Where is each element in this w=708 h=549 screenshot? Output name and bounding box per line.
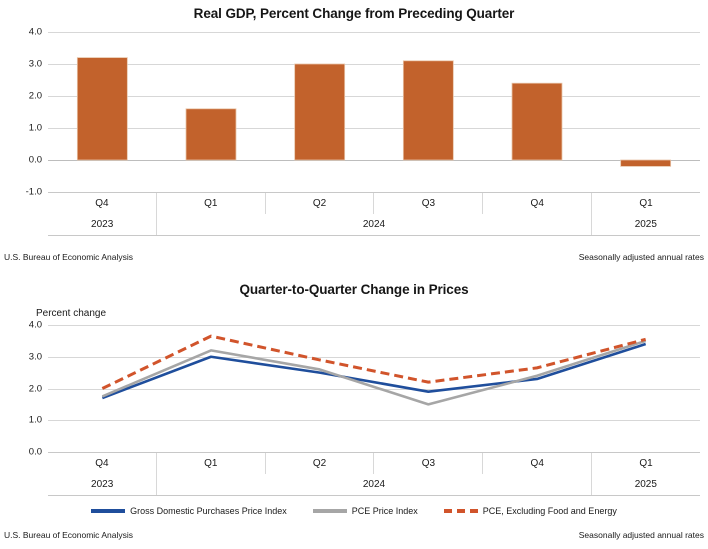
x-axis-quarter-label: Q4	[483, 453, 592, 474]
legend-label: PCE, Excluding Food and Energy	[483, 506, 617, 516]
legend-label: Gross Domestic Purchases Price Index	[130, 506, 287, 516]
prices-series-lines	[48, 325, 700, 452]
x-axis-quarter-label: Q1	[157, 453, 266, 474]
gdp-bars	[48, 32, 700, 192]
gdp-quarter-row: Q4Q1Q2Q3Q4Q1	[48, 193, 700, 214]
x-axis-quarter-label: Q2	[266, 453, 375, 474]
prices-rate-note: Seasonally adjusted annual rates	[579, 530, 704, 540]
prices-axis-note: Percent change	[36, 308, 106, 319]
gdp-footer: U.S. Bureau of Economic Analysis Seasona…	[0, 252, 708, 262]
x-axis-quarter-label: Q4	[483, 193, 592, 214]
prices-year-row: 202320242025	[48, 474, 700, 495]
prices-plot	[48, 325, 700, 452]
x-axis-year-label: 2024	[157, 474, 591, 495]
gdp-rate-note: Seasonally adjusted annual rates	[579, 252, 704, 262]
bar	[403, 61, 453, 160]
y-tick-label: -1.0	[26, 187, 42, 198]
gdp-y-axis-labels: 4.03.02.01.00.0-1.0	[0, 32, 46, 192]
legend-swatch-icon	[313, 509, 347, 513]
y-tick-label: 2.0	[29, 383, 42, 394]
x-axis-year-label: 2023	[48, 214, 157, 235]
bar	[512, 83, 562, 160]
prices-source-note: U.S. Bureau of Economic Analysis	[4, 530, 133, 540]
x-axis-year-label: 2024	[157, 214, 591, 235]
y-tick-label: 4.0	[29, 320, 42, 331]
y-tick-label: 1.0	[29, 123, 42, 134]
y-tick-label: 4.0	[29, 27, 42, 38]
y-tick-label: 0.0	[29, 447, 42, 458]
x-axis-quarter-label: Q1	[157, 193, 266, 214]
prices-legend: Gross Domestic Purchases Price IndexPCE …	[0, 506, 708, 516]
prices-plot-area: 4.03.02.01.00.0	[0, 325, 708, 452]
legend-item[interactable]: PCE, Excluding Food and Energy	[444, 506, 617, 516]
gdp-plot	[48, 32, 700, 192]
x-axis-quarter-label: Q2	[266, 193, 375, 214]
legend-swatch-icon	[91, 509, 125, 513]
y-tick-label: 1.0	[29, 415, 42, 426]
legend-item[interactable]: PCE Price Index	[313, 506, 418, 516]
prices-chart-panel: Quarter-to-Quarter Change in Prices Perc…	[0, 278, 708, 549]
x-axis-year-label: 2023	[48, 474, 157, 495]
legend-item[interactable]: Gross Domestic Purchases Price Index	[91, 506, 287, 516]
prices-chart-title: Quarter-to-Quarter Change in Prices	[0, 278, 708, 297]
gdp-chart-panel: Real GDP, Percent Change from Preceding …	[0, 0, 708, 278]
gdp-year-row: 202320242025	[48, 214, 700, 235]
prices-quarter-row: Q4Q1Q2Q3Q4Q1	[48, 453, 700, 474]
y-tick-label: 2.0	[29, 91, 42, 102]
bar	[295, 64, 345, 160]
x-axis-quarter-label: Q1	[592, 453, 700, 474]
prices-x-axis-table: Q4Q1Q2Q3Q4Q1 202320242025	[48, 452, 700, 496]
x-axis-quarter-label: Q4	[48, 193, 157, 214]
gdp-x-axis-table: Q4Q1Q2Q3Q4Q1 202320242025	[48, 192, 700, 236]
legend-swatch-icon	[444, 509, 478, 513]
y-tick-label: 0.0	[29, 155, 42, 166]
x-axis-quarter-label: Q4	[48, 453, 157, 474]
gdp-chart-title: Real GDP, Percent Change from Preceding …	[0, 0, 708, 21]
bar	[621, 160, 671, 166]
x-axis-quarter-label: Q1	[592, 193, 700, 214]
x-axis-quarter-label: Q3	[374, 453, 483, 474]
gdp-source-note: U.S. Bureau of Economic Analysis	[4, 252, 133, 262]
prices-y-axis-labels: 4.03.02.01.00.0	[0, 325, 46, 452]
y-tick-label: 3.0	[29, 59, 42, 70]
prices-footer: U.S. Bureau of Economic Analysis Seasona…	[0, 530, 708, 540]
x-axis-year-label: 2025	[592, 474, 700, 495]
bar	[186, 109, 236, 160]
gdp-plot-area: 4.03.02.01.00.0-1.0	[0, 32, 708, 192]
x-axis-quarter-label: Q3	[374, 193, 483, 214]
legend-label: PCE Price Index	[352, 506, 418, 516]
bar	[77, 58, 127, 160]
x-axis-year-label: 2025	[592, 214, 700, 235]
y-tick-label: 3.0	[29, 351, 42, 362]
